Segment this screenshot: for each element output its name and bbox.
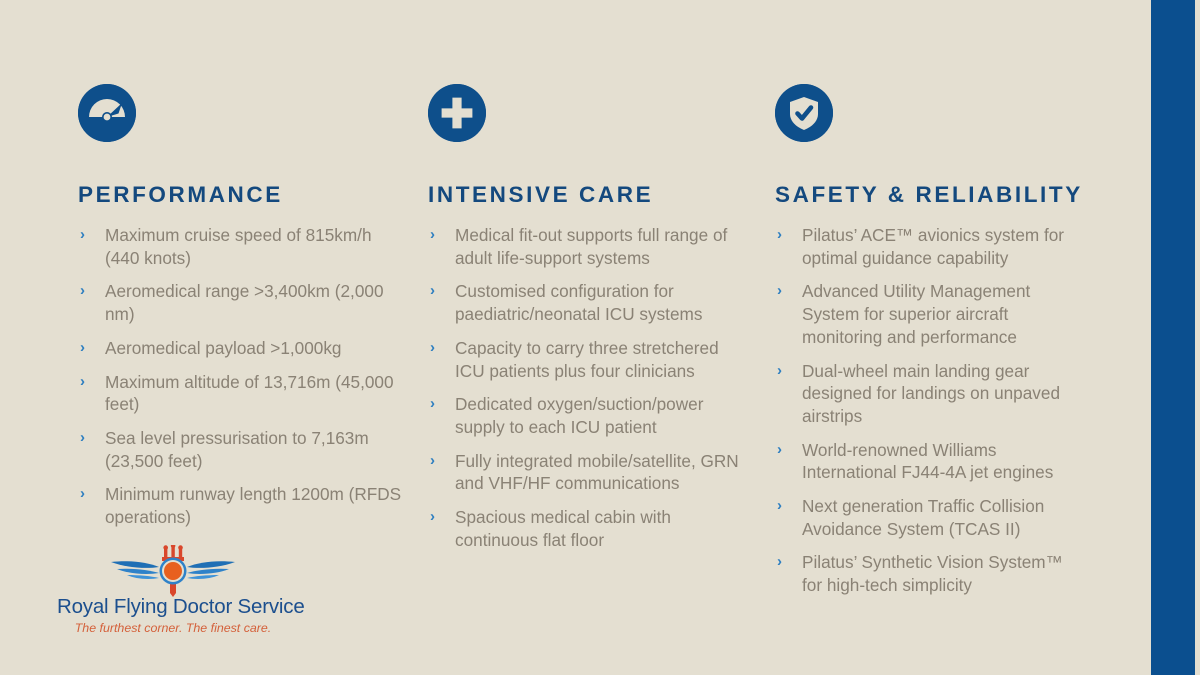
chevron-right-icon: › bbox=[777, 439, 782, 461]
bullet-list-safety: ›Pilatus’ ACE™ avionics system for optim… bbox=[775, 224, 1085, 597]
chevron-right-icon: › bbox=[430, 337, 435, 359]
list-item-text: Maximum altitude of 13,716m (45,000 feet… bbox=[105, 372, 394, 415]
rfds-winged-emblem-icon bbox=[109, 545, 237, 597]
chevron-right-icon: › bbox=[430, 506, 435, 528]
chevron-right-icon: › bbox=[430, 450, 435, 472]
list-item: ›Pilatus’ ACE™ avionics system for optim… bbox=[775, 224, 1085, 269]
chevron-right-icon: › bbox=[430, 393, 435, 415]
list-item: ›Maximum altitude of 13,716m (45,000 fee… bbox=[78, 371, 408, 416]
list-item: ›Spacious medical cabin with continuous … bbox=[428, 506, 748, 551]
list-item: ›Next generation Traffic Collision Avoid… bbox=[775, 495, 1085, 540]
list-item-text: Capacity to carry three stretchered ICU … bbox=[455, 338, 719, 381]
list-item-text: Advanced Utility Management System for s… bbox=[802, 281, 1030, 346]
column-heading: SAFETY & RELIABILITY bbox=[775, 182, 1085, 208]
column-performance: PERFORMANCE ›Maximum cruise speed of 815… bbox=[78, 84, 408, 540]
list-item-text: Medical fit-out supports full range of a… bbox=[455, 225, 727, 268]
list-item: ›Medical fit-out supports full range of … bbox=[428, 224, 748, 269]
shield-check-icon bbox=[775, 84, 833, 142]
chevron-right-icon: › bbox=[80, 483, 85, 505]
bullet-list-intensive-care: ›Medical fit-out supports full range of … bbox=[428, 224, 748, 551]
chevron-right-icon: › bbox=[430, 224, 435, 246]
chevron-right-icon: › bbox=[777, 551, 782, 573]
chevron-right-icon: › bbox=[777, 280, 782, 302]
list-item-text: Next generation Traffic Collision Avoida… bbox=[802, 496, 1044, 539]
slide-canvas: PERFORMANCE ›Maximum cruise speed of 815… bbox=[0, 0, 1200, 675]
list-item-text: Sea level pressurisation to 7,163m (23,5… bbox=[105, 428, 369, 471]
chevron-right-icon: › bbox=[777, 360, 782, 382]
list-item-text: Minimum runway length 1200m (RFDS operat… bbox=[105, 484, 401, 527]
list-item-text: Pilatus’ ACE™ avionics system for optima… bbox=[802, 225, 1064, 268]
list-item-text: Maximum cruise speed of 815km/h (440 kno… bbox=[105, 225, 372, 268]
right-edge-strip bbox=[1195, 0, 1200, 675]
list-item-text: Customised configuration for paediatric/… bbox=[455, 281, 702, 324]
column-heading: INTENSIVE CARE bbox=[428, 182, 748, 208]
rfds-logo: Royal Flying Doctor Service The furthest… bbox=[57, 545, 289, 637]
list-item-text: World-renowned Williams International FJ… bbox=[802, 440, 1053, 483]
chevron-right-icon: › bbox=[80, 224, 85, 246]
list-item-text: Fully integrated mobile/satellite, GRN a… bbox=[455, 451, 739, 494]
list-item-text: Dedicated oxygen/suction/power supply to… bbox=[455, 394, 703, 437]
list-item: ›Fully integrated mobile/satellite, GRN … bbox=[428, 450, 748, 495]
list-item: ›Maximum cruise speed of 815km/h (440 kn… bbox=[78, 224, 408, 269]
speedometer-icon bbox=[78, 84, 136, 142]
list-item: ›Customised configuration for paediatric… bbox=[428, 280, 748, 325]
rfds-tagline: The furthest corner. The finest care. bbox=[57, 621, 289, 635]
list-item-text: Aeromedical range >3,400km (2,000 nm) bbox=[105, 281, 384, 324]
column-intensive-care: INTENSIVE CARE ›Medical fit-out supports… bbox=[428, 84, 748, 562]
rfds-wordmark: Royal Flying Doctor Service bbox=[57, 595, 289, 619]
list-item: ›Dual-wheel main landing gear designed f… bbox=[775, 360, 1085, 428]
right-accent-bar bbox=[1151, 0, 1195, 675]
list-item: ›Capacity to carry three stretchered ICU… bbox=[428, 337, 748, 382]
list-item: ›World-renowned Williams International F… bbox=[775, 439, 1085, 484]
column-heading: PERFORMANCE bbox=[78, 182, 408, 208]
list-item: ›Dedicated oxygen/suction/power supply t… bbox=[428, 393, 748, 438]
chevron-right-icon: › bbox=[80, 427, 85, 449]
chevron-right-icon: › bbox=[80, 337, 85, 359]
list-item: ›Pilatus’ Synthetic Vision System™ for h… bbox=[775, 551, 1085, 596]
chevron-right-icon: › bbox=[777, 224, 782, 246]
list-item: ›Advanced Utility Management System for … bbox=[775, 280, 1085, 348]
list-item-text: Pilatus’ Synthetic Vision System™ for hi… bbox=[802, 552, 1063, 595]
chevron-right-icon: › bbox=[80, 371, 85, 393]
list-item: ›Minimum runway length 1200m (RFDS opera… bbox=[78, 483, 408, 528]
list-item-text: Aeromedical payload >1,000kg bbox=[105, 338, 342, 358]
list-item: ›Sea level pressurisation to 7,163m (23,… bbox=[78, 427, 408, 472]
chevron-right-icon: › bbox=[80, 280, 85, 302]
medical-cross-icon bbox=[428, 84, 486, 142]
list-item-text: Dual-wheel main landing gear designed fo… bbox=[802, 361, 1060, 426]
chevron-right-icon: › bbox=[430, 280, 435, 302]
column-safety-reliability: SAFETY & RELIABILITY ›Pilatus’ ACE™ avio… bbox=[775, 84, 1085, 608]
bullet-list-performance: ›Maximum cruise speed of 815km/h (440 kn… bbox=[78, 224, 408, 529]
chevron-right-icon: › bbox=[777, 495, 782, 517]
list-item-text: Spacious medical cabin with continuous f… bbox=[455, 507, 671, 550]
list-item: ›Aeromedical range >3,400km (2,000 nm) bbox=[78, 280, 408, 325]
list-item: ›Aeromedical payload >1,000kg bbox=[78, 337, 408, 360]
